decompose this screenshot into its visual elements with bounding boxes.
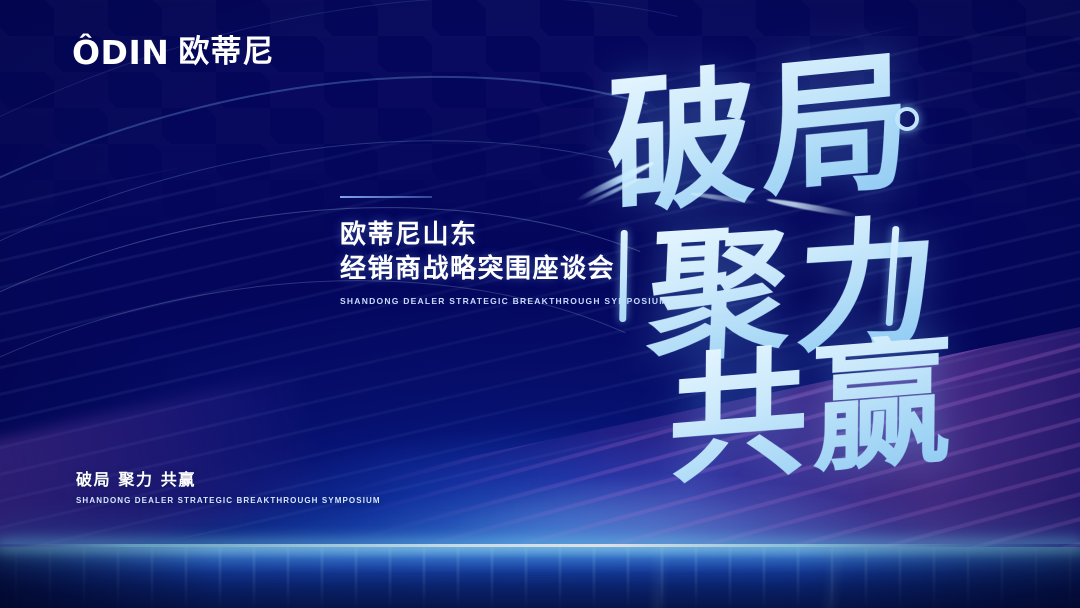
event-poster: ÔDIN 欧蒂尼 欧蒂尼山东 经销商战略突围座谈会 SHANDONG DEALE… [0, 0, 1080, 608]
footer-slogan-block: 破局 聚力 共赢 SHANDONG DEALER STRATEGIC BREAK… [76, 470, 381, 505]
calligraphy-row-1: 破局 [606, 45, 918, 225]
footer-slogan-english: SHANDONG DEALER STRATEGIC BREAKTHROUGH S… [76, 496, 381, 505]
brand-logo[interactable]: ÔDIN 欧蒂尼 [72, 36, 274, 69]
title-divider-rule [340, 196, 432, 198]
calligraphy-row-3: 共赢 [668, 330, 956, 493]
footer-slogan-chinese: 破局 聚力 共赢 [76, 470, 381, 490]
brand-logo-chinese: 欧蒂尼 [178, 37, 274, 68]
brand-logo-latin: ÔDIN [72, 36, 169, 69]
ring-accent-icon [895, 107, 919, 131]
hero-calligraphy: 破局 聚力 共赢 [560, 42, 1060, 472]
